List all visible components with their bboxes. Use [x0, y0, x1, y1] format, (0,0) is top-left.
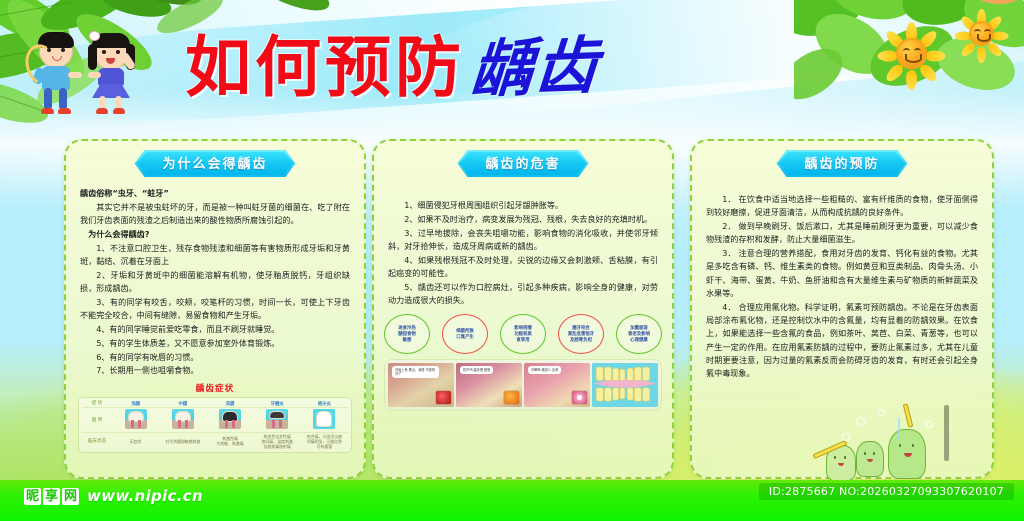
symptom-stage-4: 根尖炎 — [301, 400, 348, 408]
harm-circle-3: 磨牙咬合紊乱危害恒牙及肠胃负担 — [558, 314, 604, 354]
photo-thumb-2 — [572, 391, 587, 404]
tree-trunk — [944, 405, 949, 461]
paragraph-1: 其实它并不是被虫蛀坏的牙，而是被一种叫蛀牙菌的细菌在、吃了附在我们牙齿表面的残渣… — [80, 201, 350, 228]
photo-cell-2: 牙龈肿 痛怎么 办呀 — [524, 363, 590, 407]
symptom-state-row: 临床状态 无症状 对冷热酸甜敏感刺激 刺激性痛冷热敏、刺激痛 阵发性自发性痛夜间… — [82, 432, 348, 450]
sunflower-icon-right — [958, 10, 1004, 56]
tooth-diagram-icon-1 — [172, 409, 194, 429]
panel-right-body: 1． 在饮食中适当地选择一些粗糙的、富有纤维质的食物，使牙面侧得到较好磨擦，促进… — [692, 177, 992, 381]
cartoon-children — [26, 22, 151, 122]
image-id-badge: ID:2875667 NO:20260327093307620107 — [759, 483, 1014, 500]
site-logo[interactable]: 昵享网 www.nipic.cn — [24, 487, 203, 505]
photo-thumb-1 — [504, 391, 519, 404]
poster-root: 如何预防 龋齿 为什么会得龋齿 — [0, 0, 1024, 521]
panel-mid-header: 龋齿的危害 — [459, 152, 586, 175]
panel-right-header-shell: 龋齿的预防 — [776, 150, 907, 177]
jaw-diagram-icon — [592, 363, 658, 407]
paragraph-2: 3、过早地拔除，会丧失咀嚼功能，影响食物的消化吸收，并使邻牙倾斜，对牙拾伸长，造… — [388, 227, 658, 254]
panel-right-header-wrap: 龋齿的预防 — [692, 150, 992, 177]
photo-strip: 牙齿上有 黑点，我是 不是蛀牙了 吃东西 塞牙很 难受 牙龈肿 痛怎么 办呀 — [384, 359, 662, 411]
tooth-diagram-icon-3 — [266, 409, 288, 429]
photo-bubble-2: 牙龈肿 痛怎么 办呀 — [528, 366, 561, 374]
bubble-1 — [878, 409, 885, 416]
paragraph-0: 1、细菌侵犯牙根周围组织引起牙龈肿胀等。 — [388, 199, 658, 212]
symptom-tooth-cell-1 — [159, 408, 206, 432]
symptom-row-label-2: 临床状态 — [82, 438, 112, 444]
harm-circle-2: 影响咀嚼功能和美食享用 — [500, 314, 546, 354]
symptom-tooth-cell-4 — [301, 408, 348, 432]
panel-mid-header-wrap: 龋齿的危害 — [374, 150, 672, 177]
tooth-character-1 — [856, 441, 884, 477]
site-logo-url: www.nipic.cn — [87, 487, 203, 505]
symptom-state-3: 阵发性自发性痛夜间痛，温度刺激加剧疼痛放射痛 — [254, 433, 301, 450]
symptom-stage-1: 中龋 — [159, 400, 206, 408]
logo-char-1: 享 — [43, 488, 60, 505]
title-red-text: 如何预防 — [185, 35, 465, 101]
paragraph-0: 龋齿俗称“虫牙、“蛀牙” — [80, 187, 350, 200]
symptom-tooth-cell-0 — [112, 408, 159, 432]
water-stream — [898, 417, 900, 439]
boy-figure — [30, 28, 86, 120]
paragraph-1: 2． 做到早晚刷牙、饭后漱口，尤其是睡前刷牙更为重要，可以减少食物残渣的存积和发… — [706, 220, 978, 247]
symptom-header-row: 症 状 浅龋 中龋 深龋 牙髓炎 根尖炎 — [82, 400, 348, 408]
photo-bubble-1: 吃东西 塞牙很 难受 — [460, 366, 493, 374]
bubble-0 — [856, 417, 865, 426]
symptom-state-0: 无症状 — [112, 438, 159, 445]
tooth-character-2 — [888, 429, 926, 479]
symptom-state-1: 对冷热酸甜敏感刺激 — [159, 438, 206, 445]
paragraph-4: 2、牙垢和牙黄斑中的细菌能溶解有机物，使牙釉质脱钙，牙组织缺损，形成龋齿。 — [80, 269, 350, 296]
panel-left-header-wrap: 为什么会得龋齿 — [66, 150, 364, 177]
panel-mid-header-shell: 龋齿的危害 — [457, 150, 588, 177]
panel-why-cavities: 为什么会得龋齿 龋齿俗称“虫牙、“蛀牙”其实它并不是被虫蛀坏的牙，而是被一种叫蛀… — [64, 139, 366, 479]
symptom-row-label-1: 图 例 — [82, 417, 112, 423]
paragraph-3: 4． 合理应用氟化物。科学证明，氟素可预防龋齿。不论是在牙齿表面局部涂布氟化物，… — [706, 301, 978, 381]
symptom-table-title: 龋齿症状 — [66, 382, 364, 394]
paragraph-6: 4、有的同学睡觉前爱吃零食，而且不刷牙就睡觉。 — [80, 323, 350, 336]
tooth-diagram-icon-0 — [125, 409, 147, 429]
paragraph-3: 4、如果残根残冠不及时处理，尖锐的边缘又会刺激颊、舌粘膜，有引起癌变的可能性。 — [388, 254, 658, 281]
paragraph-9: 7、长期用一侧也咀嚼食物。 — [80, 364, 350, 377]
tooth-diagram-icon-4 — [313, 409, 335, 429]
panel-left-body: 龋齿俗称“虫牙、“蛀牙”其实它并不是被虫蛀坏的牙，而是被一种叫蛀牙菌的细菌在、吃… — [66, 177, 364, 378]
logo-char-2: 网 — [62, 488, 79, 505]
photo-bubble-0: 牙齿上有 黑点，我是 不是蛀牙了 — [392, 366, 439, 378]
photo-cell-3-jaw-diagram — [592, 363, 658, 407]
girl-figure — [82, 26, 142, 120]
bubble-2 — [842, 433, 850, 441]
cartoon-teeth-group — [826, 411, 1006, 487]
photo-cell-0: 牙齿上有 黑点，我是 不是蛀牙了 — [388, 363, 454, 407]
symptom-stage-3: 牙髓炎 — [254, 400, 301, 408]
symptom-table: 症 状 浅龋 中龋 深龋 牙髓炎 根尖炎 图 例 临床状态 无症状 对冷热酸甜敏… — [78, 397, 352, 453]
symptom-tooth-cell-2 — [206, 408, 253, 432]
paragraph-0: 1． 在饮食中适当地选择一些粗糙的、富有纤维质的食物，使牙面侧得到较好磨擦，促进… — [706, 193, 978, 220]
symptom-row-label-0: 症 状 — [82, 400, 112, 406]
symptom-tooth-cell-3 — [254, 408, 301, 432]
panel-cavity-harms: 龋齿的危害 1、细菌侵犯牙根周围组织引起牙龈肿胀等。2、如果不及时治疗，病变发展… — [372, 139, 674, 479]
footer-bar: 昵享网 www.nipic.cn ID:2875667 NO:202603270… — [0, 480, 1024, 521]
paragraph-8: 6、有的同学有吮唇的习惯。 — [80, 351, 350, 364]
paragraph-1: 2、如果不及时治疗，病变发展为残冠、残根，失去良好的充填时机。 — [388, 213, 658, 226]
tooth-diagram-icon-2 — [219, 409, 241, 429]
symptom-stage-2: 深龋 — [206, 400, 253, 408]
paragraph-4: 5、龋齿还可以作为口腔病灶，引起多种疾病，影响全身的健康，对劳动力造成很大的损失… — [388, 281, 658, 308]
symptom-state-4: 咬合痛，牙齿浮出感叩痛明显，牙龈红肿可有瘘管 — [301, 433, 348, 450]
paragraph-7: 5、有的学生体质差，又不愿意参加室外体育锻炼。 — [80, 337, 350, 350]
photo-thumb-0 — [436, 391, 451, 404]
paragraph-3: 1、不注意口腔卫生，残存食物残渣和细菌等有害物质形成牙垢和牙黄斑，黏结、沉着在牙… — [80, 242, 350, 269]
symptom-image-row: 图 例 — [82, 407, 348, 432]
panel-right-header: 龋齿的预防 — [778, 152, 905, 175]
panel-left-header: 为什么会得龋齿 — [136, 152, 293, 175]
site-logo-chinese: 昵享网 — [24, 488, 79, 505]
photo-cell-1: 吃东西 塞牙很 难受 — [456, 363, 522, 407]
sunflower-icon-left — [882, 24, 940, 82]
symptom-stage-0: 浅龋 — [112, 400, 159, 408]
bubble-3 — [926, 421, 933, 428]
title-blue-text: 龋齿 — [469, 35, 602, 101]
paragraph-5: 3、有的同学有咬舌，咬颊，咬笔杆的习惯，时间一长，可使上下牙齿不能完全咬合，中间… — [80, 296, 350, 323]
paragraph-2: 3． 注意合理的营养搭配，食用对牙齿的发育、钙化有益的食物。尤其是多吃含有磷、钙… — [706, 247, 978, 300]
harm-circle-row: 进食冷热酸甜食物敏感细菌所致口臭产生影响咀嚼功能和美食享用磨牙咬合紊乱危害恒牙及… — [374, 308, 672, 354]
panel-mid-body: 1、细菌侵犯牙根周围组织引起牙龈肿胀等。2、如果不及时治疗，病变发展为残冠、残根… — [374, 177, 672, 307]
harm-circle-1: 细菌所致口臭产生 — [442, 314, 488, 354]
page-title: 如何预防 龋齿 — [185, 20, 705, 116]
logo-char-0: 昵 — [24, 488, 41, 505]
symptom-state-2: 刺激性痛冷热敏、刺激痛 — [206, 435, 253, 447]
panel-left-header-shell: 为什么会得龋齿 — [134, 150, 295, 177]
paragraph-2: 为什么会得龋齿? — [80, 228, 350, 241]
harm-circle-0: 进食冷热酸甜食物敏感 — [384, 314, 430, 354]
harm-circle-4: 加重面容衰老及影响心理健康 — [616, 314, 662, 354]
